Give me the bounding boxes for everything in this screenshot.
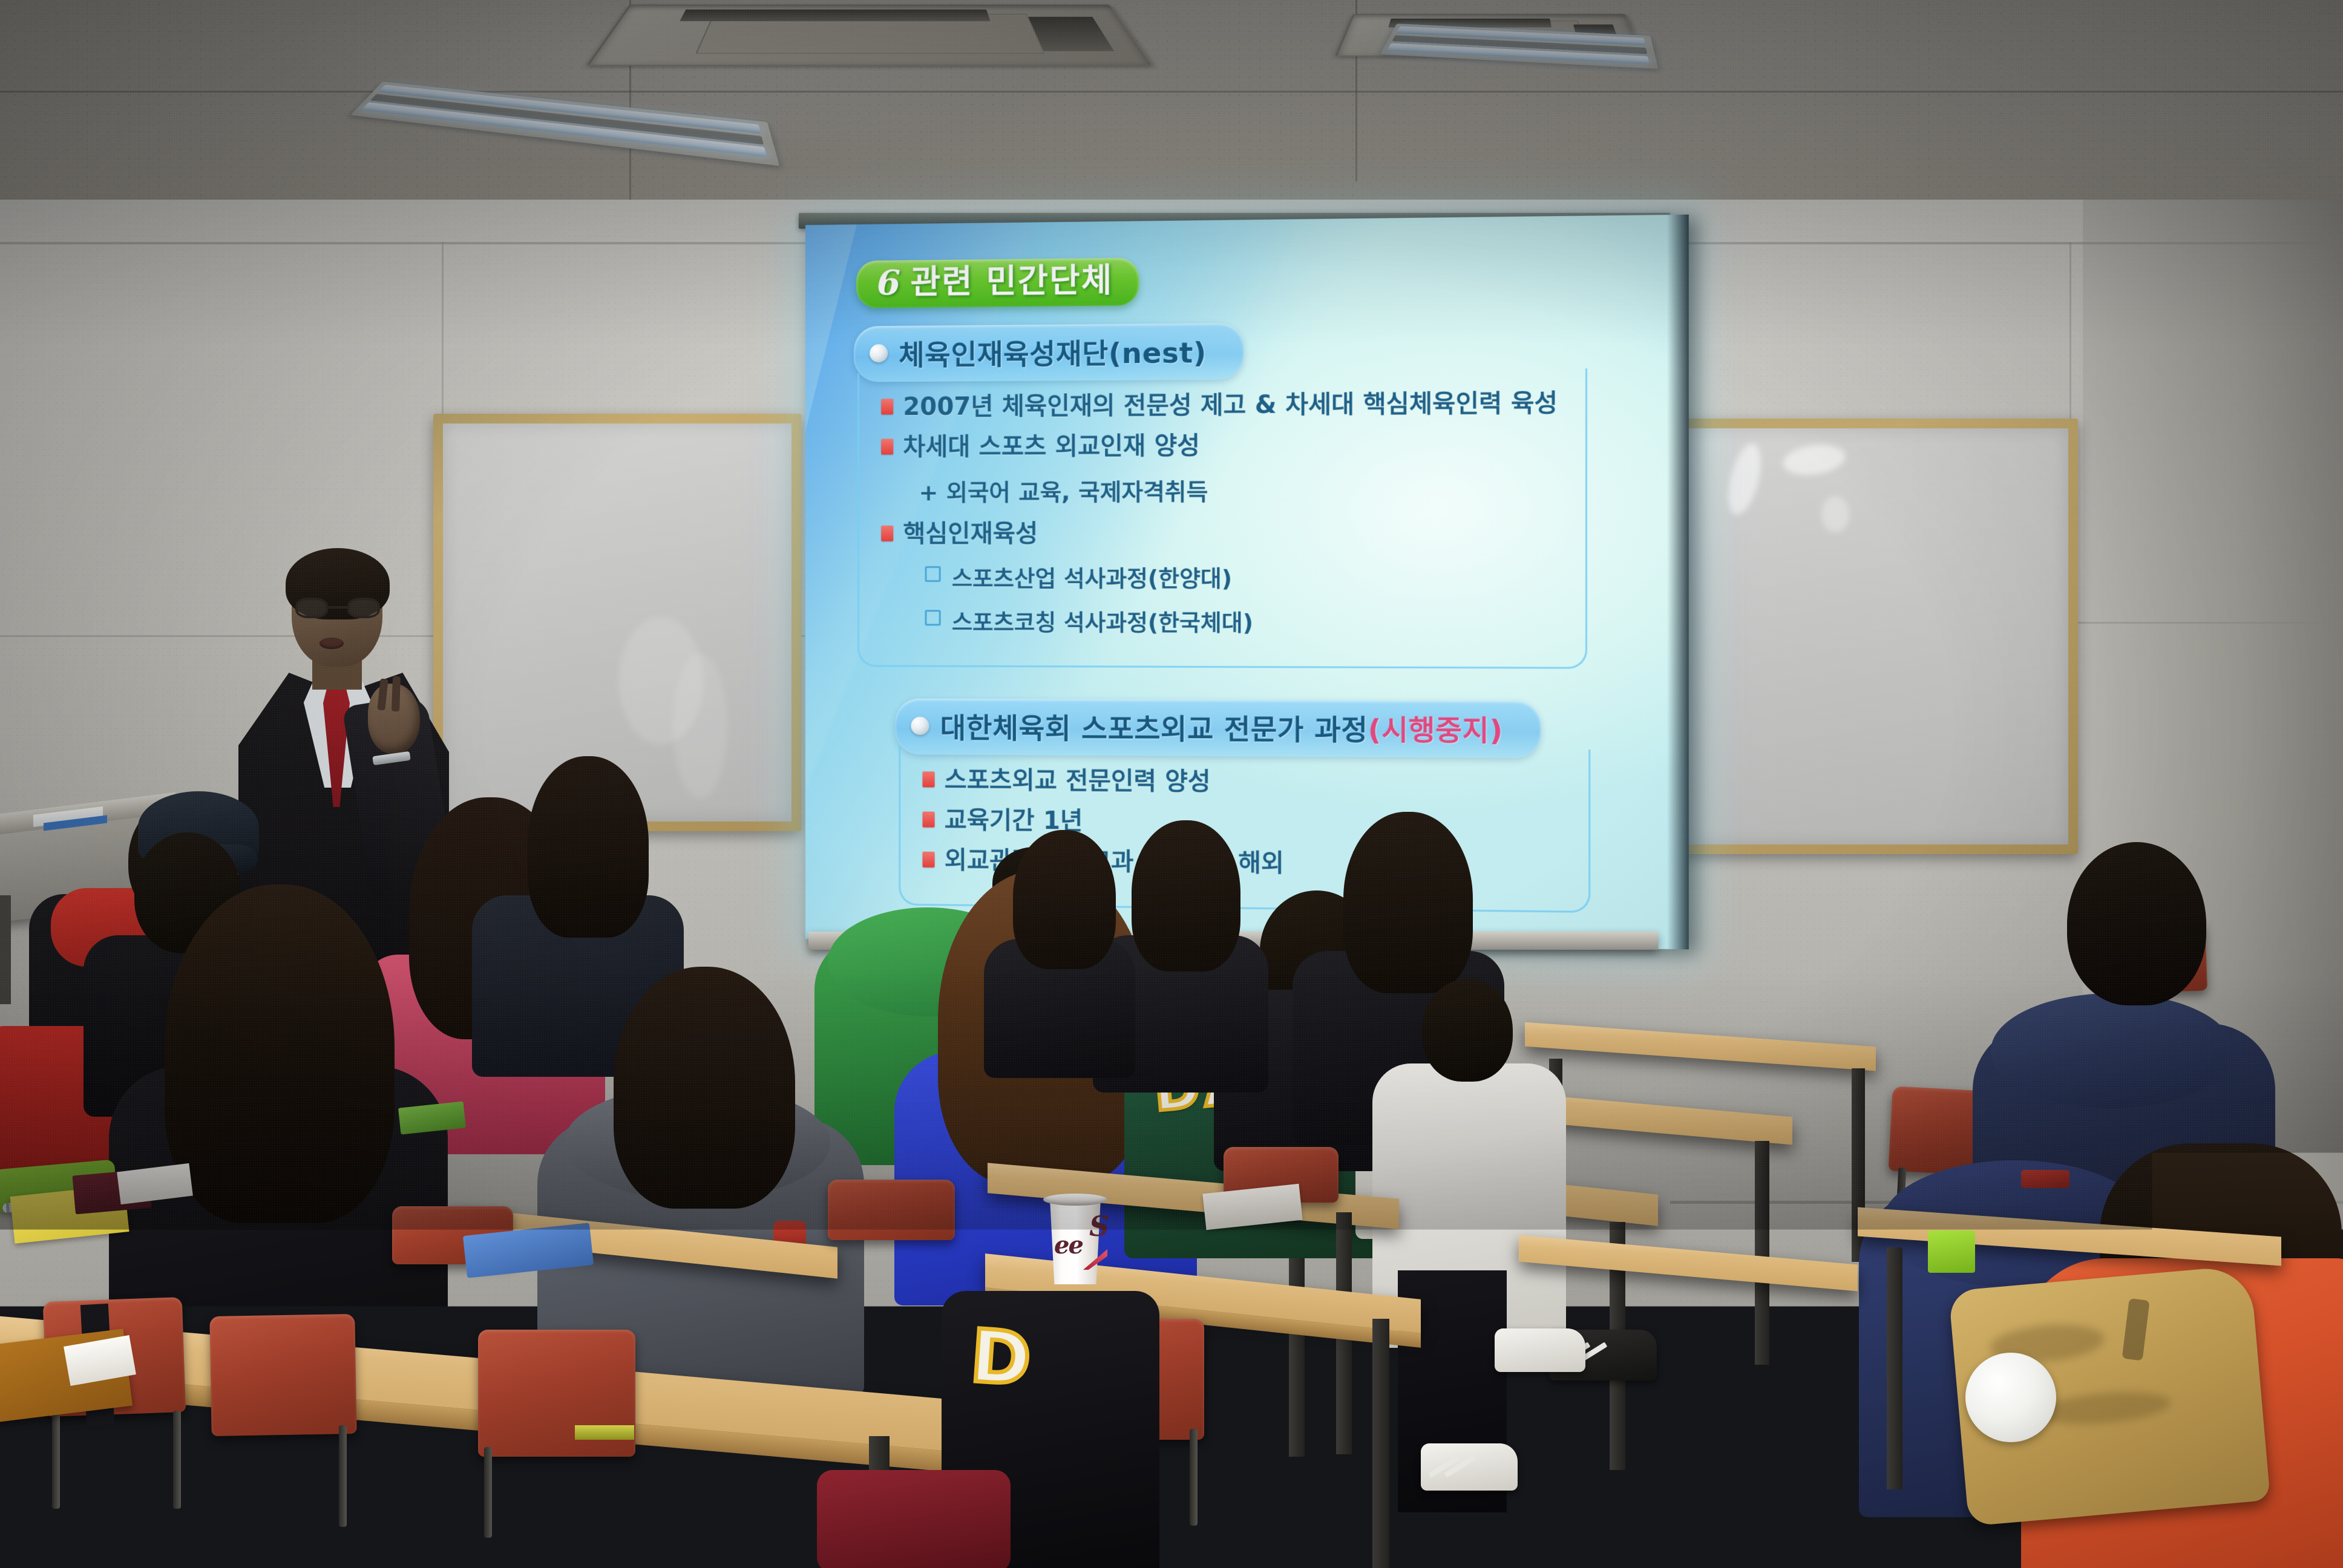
slide-bullet: 2007년 체육인재의 전문성 제고 & 차세대 핵심체육인력 육성 [881,390,1570,420]
jacket-logo-patch [2021,1170,2069,1188]
chair-leg [52,1406,60,1509]
glasses-lens [295,598,328,618]
chair-label-tag [575,1425,634,1440]
slide-bullet: 핵심인재육성 [881,519,1570,547]
slide-bullet-text: 2007년 체육인재의 전문성 제고 & 차세대 핵심체육인력 육성 [903,390,1558,420]
desk-leg [1372,1319,1389,1568]
glasses-icon [295,598,380,618]
varsity-sleeve-letter: D [968,1315,1034,1403]
floor-tile-seam [1694,1331,1697,1567]
student-hair [1013,830,1116,969]
desk-leg [1887,1247,1902,1489]
slide-checkbox-text: 스포츠코칭 석사과정(한국체대) [952,604,1253,638]
presenter-mouth [319,638,344,649]
backpack [817,1470,1011,1568]
square-bullet-icon [881,439,893,454]
slide-checkbox-text: 스포츠산업 석사과정(한양대) [952,561,1232,594]
chair [209,1314,356,1436]
glasses-bridge [328,606,347,609]
slide-bullet-text: 핵심인재육성 [903,520,1038,547]
student-hair [165,884,395,1223]
whiteboard-glare [1722,440,1767,518]
slide-checkbox-item: 스포츠코칭 석사과정(한국체대) [925,604,1570,638]
slide-bullet-text: 스포츠외교 전문인력 양성 [945,766,1211,795]
student-hair [1343,812,1473,993]
sneaker [1495,1328,1585,1372]
student-hair [528,756,649,938]
slide-block-heading-text: 체육인재육성재단(nest) [899,331,1207,373]
orb-bullet-icon [911,717,929,735]
chair-leg [1190,1429,1198,1526]
chair-leg [339,1425,347,1527]
slide-block-1: 체육인재육성재단(nest) 2007년 체육인재의 전문성 제고 & 차세대 … [854,319,1660,669]
square-bullet-icon [922,811,934,827]
slide-bullet: 스포츠외교 전문인력 양성 [922,766,1573,798]
whiteboard-surface [1687,428,2068,844]
slide-section-number: 6 [877,266,900,300]
cup-logo-text: ee [1054,1231,1083,1259]
checkbox-icon [925,566,941,582]
student-grey-hoodie [537,967,876,1390]
cup-logo-letter: S [1089,1210,1109,1243]
chair-leg [484,1447,492,1538]
chair-leg [173,1411,181,1509]
ceiling-seam [0,91,2343,93]
ceiling-cassette-ac [586,5,1154,66]
coat-strap [2122,1298,2150,1361]
student-head [1422,979,1513,1082]
cup-rim [1043,1194,1107,1206]
slide-block-heading-status: (시행중지) [1368,713,1503,747]
square-bullet-icon [881,399,893,414]
whiteboard-glare [1821,496,1849,532]
student-hair [1132,820,1240,972]
whiteboard-right [1677,419,2078,854]
presenter-hand [368,684,420,754]
glasses-lens [347,598,380,618]
screen-edge-shadow [1667,215,1689,950]
slide-block-heading-text: 대한체육회 스포츠외교 전문가 과정(시행중지) [940,706,1503,749]
slide-section-title: 관련 민간단체 [910,264,1113,299]
square-bullet-icon [922,771,934,787]
slide-block-body: 2007년 체육인재의 전문성 제고 & 차세대 핵심체육인력 육성 차세대 스… [857,368,1587,669]
finger [392,676,401,711]
lectern-leg [0,895,11,1004]
student-back-row [984,830,1141,1030]
pom-pom [1965,1353,2056,1442]
desk-leg [1755,1141,1769,1365]
slide-checkbox-item: 스포츠산업 석사과정(한양대) [925,560,1570,593]
coat-fold [2037,1387,2172,1429]
student-head [2067,842,2206,1005]
green-item [1928,1230,1975,1273]
student-hair [614,967,795,1209]
orb-bullet-icon [870,344,888,362]
slide-section-badge: 6 관련 민간단체 [856,258,1139,308]
chair [828,1180,955,1240]
slide-bullet-text: 차세대 스포츠 외교인재 양성 [903,433,1200,461]
square-bullet-icon [881,526,893,541]
slide-subitem-text: + 외국어 교육, 국제자격취득 [919,471,1570,507]
ac-vent [1029,17,1115,51]
slide-bullet: 차세대 스포츠 외교인재 양성 [881,431,1570,461]
ac-vent [680,10,991,21]
checkbox-icon [925,610,941,626]
classroom-photo: 6 관련 민간단체 체육인재육성재단(nest) 2007년 체육인재의 전문성… [0,0,2343,1568]
sneaker [1421,1443,1518,1491]
whiteboard-glare [1781,441,1847,479]
